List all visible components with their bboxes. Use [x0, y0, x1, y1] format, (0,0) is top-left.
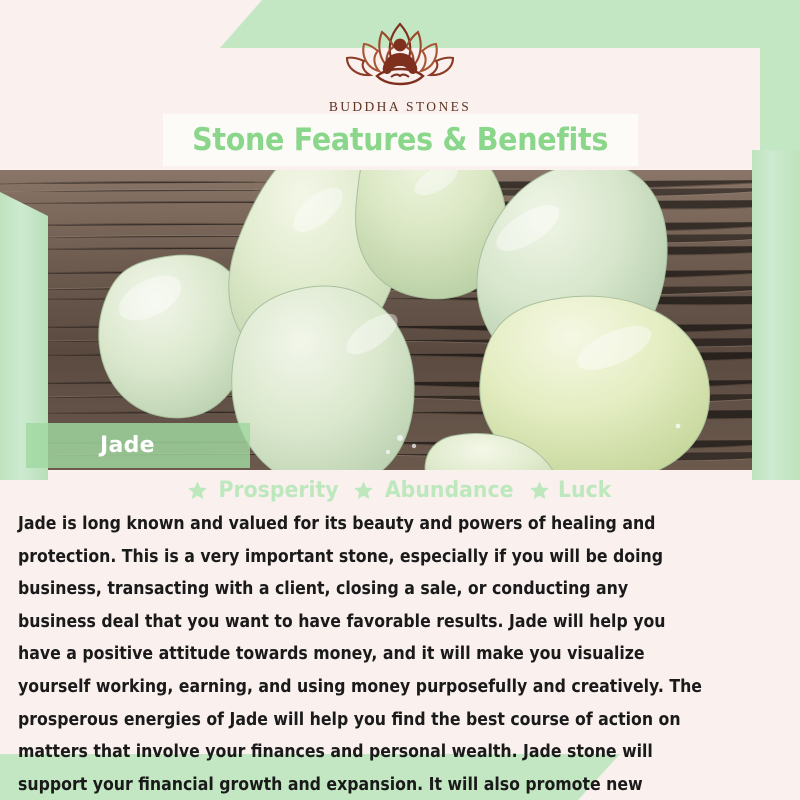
- lotus-meditation-icon: [325, 18, 475, 93]
- brand-wordmark: BUDDHA STONES: [329, 99, 471, 115]
- title-banner: Stone Features & Benefits: [163, 114, 638, 166]
- stone-name-label: Jade: [100, 433, 155, 458]
- star-icon: [353, 480, 374, 501]
- star-icon: [529, 480, 550, 501]
- decor-right-green-bar: [752, 150, 800, 480]
- keyword-item: Luck: [529, 478, 613, 503]
- keyword-label: Prosperity: [219, 478, 339, 503]
- keyword-label: Abundance: [385, 478, 514, 503]
- keyword-item: Prosperity: [187, 478, 343, 503]
- keyword-label: Luck: [558, 478, 611, 503]
- page-title: Stone Features & Benefits: [193, 122, 609, 158]
- star-icon: [187, 480, 208, 501]
- brand-logo: BUDDHA STONES: [0, 18, 800, 115]
- stone-info-poster: BUDDHA STONES Stone Features & Benefits: [0, 0, 800, 800]
- keyword-item: Abundance: [353, 478, 518, 503]
- stone-name-tag: Jade: [26, 423, 250, 468]
- keyword-list: Prosperity Abundance Luck: [0, 478, 800, 503]
- stone-description: Jade is long known and valued for its be…: [18, 508, 705, 800]
